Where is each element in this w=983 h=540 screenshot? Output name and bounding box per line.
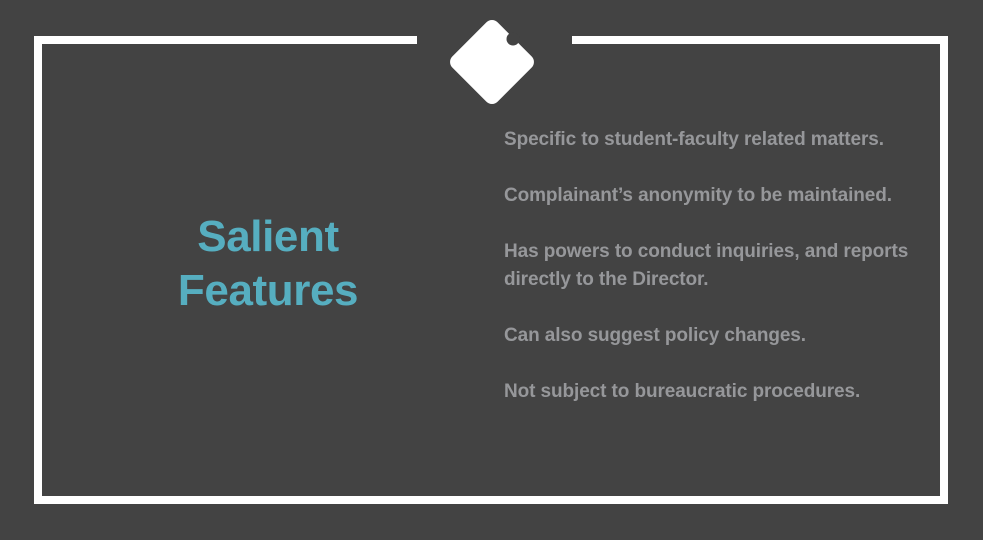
frame-border-right: [940, 36, 948, 504]
slide-canvas: Salient Features Specific to student-fac…: [0, 0, 983, 540]
list-item: Can also suggest policy changes.: [504, 322, 924, 350]
bullet-list: Specific to student-faculty related matt…: [494, 44, 940, 496]
page-title: Salient Features: [178, 210, 358, 317]
list-item: Has powers to conduct inquiries, and rep…: [504, 238, 924, 294]
title-column: Salient Features: [42, 44, 494, 496]
frame-border-left: [34, 36, 42, 504]
frame-border-bottom: [34, 496, 948, 504]
frame-border-top-left: [34, 36, 417, 44]
slide-content: Salient Features Specific to student-fac…: [42, 44, 940, 496]
list-item: Complainant’s anonymity to be maintained…: [504, 182, 924, 210]
list-item: Specific to student-faculty related matt…: [504, 126, 924, 154]
list-item: Not subject to bureaucratic procedures.: [504, 378, 924, 406]
frame-border-top-right: [572, 36, 948, 44]
